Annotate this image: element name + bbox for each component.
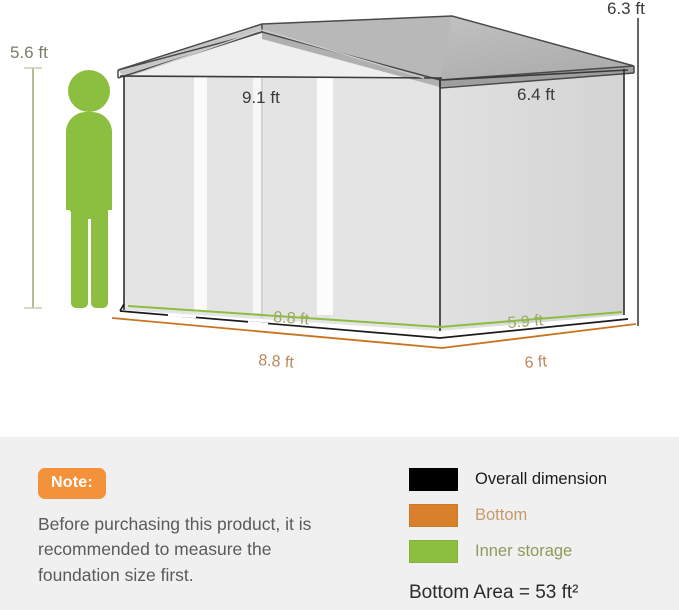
note-block: Note: Before purchasing this product, it… xyxy=(38,468,368,588)
legend-block: Overall dimension Bottom Inner storage B… xyxy=(409,461,659,604)
measure-label-front-bottom: 8.8 ft xyxy=(258,352,295,372)
measure-label-side-inner-storage: 5.9 ft xyxy=(507,312,544,332)
diagram-area: 5.6 ft 6.3 ft xyxy=(0,0,679,437)
info-panel: Note: Before purchasing this product, it… xyxy=(0,437,679,610)
measure-label-person-height: 5.6 ft xyxy=(10,43,48,62)
measure-label-side-width: 6.4 ft xyxy=(517,85,555,104)
legend-label-inner-storage: Inner storage xyxy=(475,542,572,561)
legend-label-bottom: Bottom xyxy=(475,506,527,525)
legend-item-overall-dimension: Overall dimension xyxy=(409,461,659,497)
measure-label-front-inner-storage: 8.8 ft xyxy=(273,309,310,328)
person-height-measure xyxy=(24,68,42,308)
measure-label-front-width: 9.1 ft xyxy=(242,88,280,107)
shed-illustration: 5.6 ft 6.3 ft xyxy=(0,0,679,437)
legend-item-bottom: Bottom xyxy=(409,497,659,533)
note-body-text: Before purchasing this product, it is re… xyxy=(38,512,348,588)
legend-item-inner-storage: Inner storage xyxy=(409,533,659,569)
person-silhouette xyxy=(66,70,112,308)
measure-label-overall-height: 6.3 ft xyxy=(607,0,645,18)
legend-swatch-bottom xyxy=(409,504,458,527)
bottom-area-summary: Bottom Area = 53 ft² xyxy=(409,582,659,604)
measure-label-side-bottom: 6 ft xyxy=(524,353,548,372)
legend-swatch-inner-storage xyxy=(409,540,458,563)
shed-front-wall xyxy=(124,76,440,331)
legend-swatch-overall-dimension xyxy=(409,468,458,491)
shed-side-wall xyxy=(440,69,624,331)
shed-dimension-diagram-page: 5.6 ft 6.3 ft xyxy=(0,0,679,610)
legend-label-overall-dimension: Overall dimension xyxy=(475,470,607,489)
note-badge: Note: xyxy=(38,468,106,499)
